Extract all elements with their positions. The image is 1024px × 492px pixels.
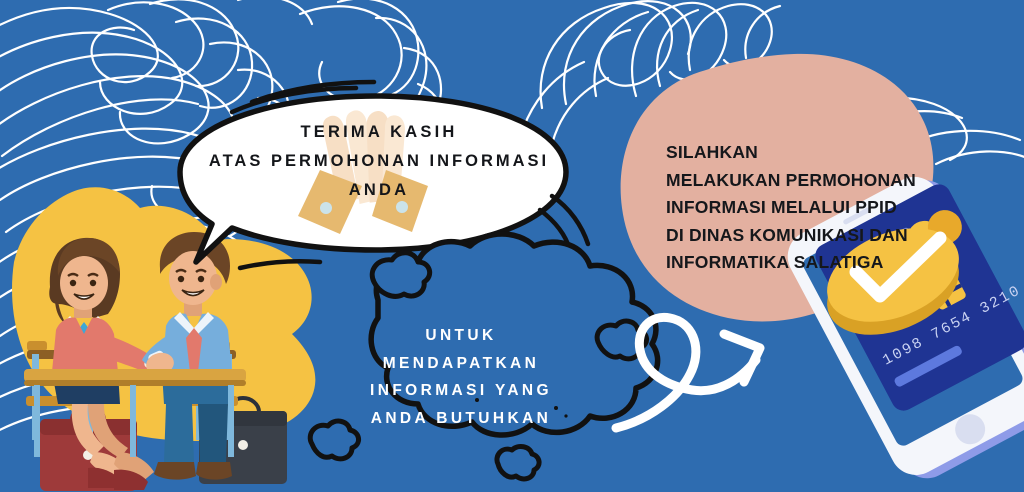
poster-canvas: 1098 7654 3210 TERIMA KASIH ATAS PERMOHO…	[0, 0, 1024, 492]
poster-artwork: 1098 7654 3210	[0, 0, 1024, 492]
